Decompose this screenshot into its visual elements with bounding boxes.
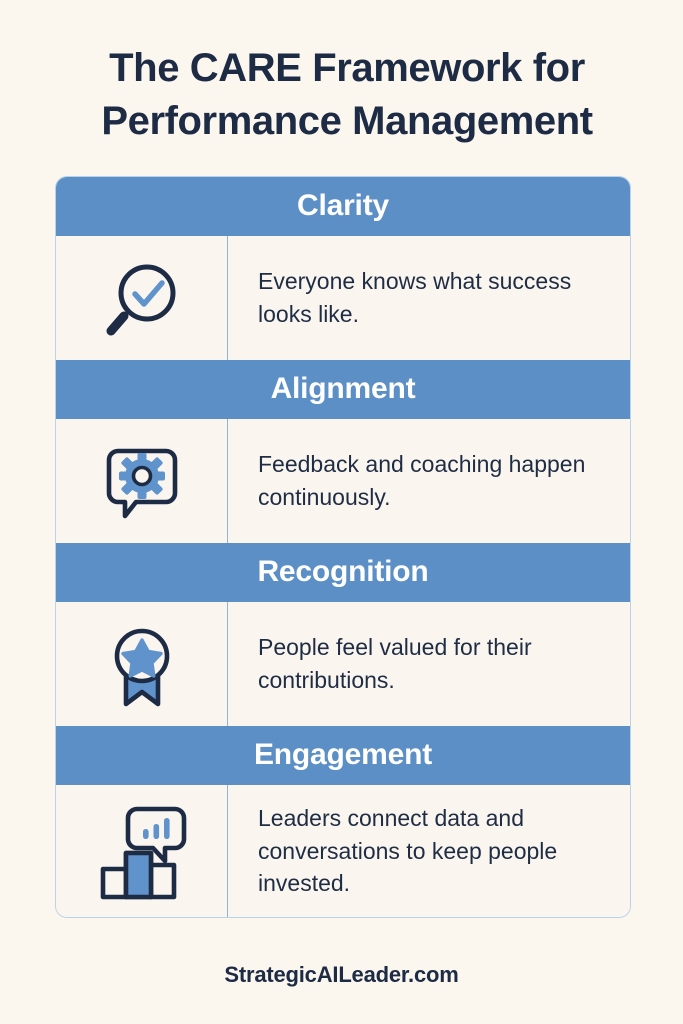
icon-cell-clarity — [56, 236, 228, 360]
section-heading-clarity: Clarity — [56, 177, 630, 236]
page-title: The CARE Framework for Performance Manag… — [52, 42, 642, 148]
section-row-alignment: Feedback and coaching happen continuousl… — [56, 419, 630, 543]
speech-bubble-gear-icon — [96, 435, 188, 527]
icon-cell-engagement — [56, 785, 228, 917]
section-heading-engagement: Engagement — [56, 726, 630, 785]
section-description-clarity: Everyone knows what success looks like. — [258, 265, 606, 330]
section-description-engagement: Leaders connect data and conversations t… — [258, 802, 606, 900]
section-description-alignment: Feedback and coaching happen continuousl… — [258, 448, 606, 513]
section-description-recognition: People feel valued for their contributio… — [258, 631, 606, 696]
podium-chart-bubble-icon — [93, 801, 191, 901]
icon-cell-recognition — [56, 602, 228, 726]
section-row-recognition: People feel valued for their contributio… — [56, 602, 630, 726]
section-row-engagement: Leaders connect data and conversations t… — [56, 785, 630, 917]
infographic-poster: The CARE Framework for Performance Manag… — [0, 0, 683, 1024]
section-heading-alignment: Alignment — [56, 360, 630, 419]
text-cell-recognition: People feel valued for their contributio… — [228, 602, 630, 726]
award-ribbon-star-icon — [96, 618, 188, 710]
text-cell-alignment: Feedback and coaching happen continuousl… — [228, 419, 630, 543]
page-title-line-2: Performance Management — [52, 95, 642, 148]
footer-website: StrategicAILeader.com — [0, 962, 683, 988]
icon-cell-alignment — [56, 419, 228, 543]
magnifier-check-icon — [96, 252, 188, 344]
text-cell-clarity: Everyone knows what success looks like. — [228, 236, 630, 360]
text-cell-engagement: Leaders connect data and conversations t… — [228, 785, 630, 917]
care-framework-card: Clarity Everyone knows what success look… — [55, 176, 631, 918]
section-heading-recognition: Recognition — [56, 543, 630, 602]
section-row-clarity: Everyone knows what success looks like. — [56, 236, 630, 360]
page-title-line-1: The CARE Framework for — [52, 42, 642, 95]
